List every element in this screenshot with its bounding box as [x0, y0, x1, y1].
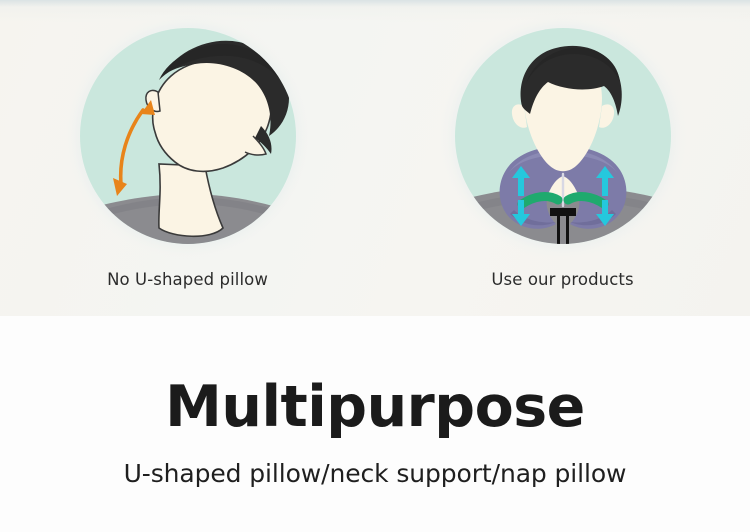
illustration-no-pillow: [63, 14, 313, 264]
illustration-use-products: [438, 14, 688, 264]
strap-buckle: [550, 208, 576, 216]
use-products-illustration-svg: [438, 14, 688, 264]
caption-no-pillow: No U-shaped pillow: [0, 270, 375, 289]
page-subtitle: U-shaped pillow/neck support/nap pillow: [0, 459, 750, 489]
page-title: Multipurpose: [0, 376, 750, 438]
no-pillow-illustration-svg: [63, 14, 313, 264]
comparison-item-no-pillow: No U-shaped pillow: [0, 0, 375, 316]
caption-use-products: Use our products: [375, 270, 750, 289]
comparison-item-use-products: Use our products: [375, 0, 750, 316]
product-feature-banner: No U-shaped pillow: [0, 0, 750, 532]
headline-section: Multipurpose U-shaped pillow/neck suppor…: [0, 316, 750, 532]
comparison-panel: No U-shaped pillow: [0, 0, 750, 316]
